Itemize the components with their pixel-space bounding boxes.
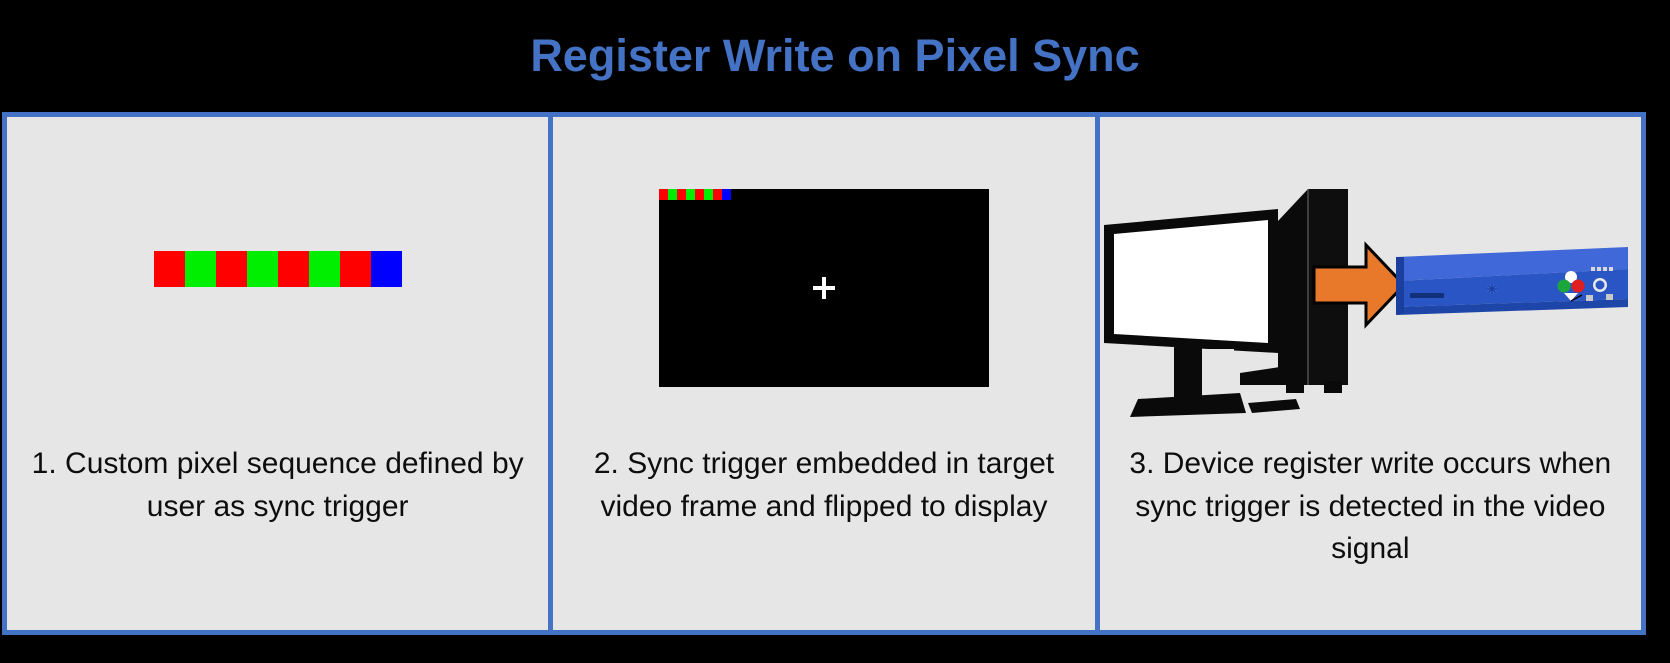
pixel-swatch-blue bbox=[371, 251, 402, 287]
panel-custom-pixel-sequence: 1. Custom pixel sequence defined by user… bbox=[7, 117, 548, 630]
computer-arrow-device-illustration bbox=[1100, 117, 1640, 443]
pixel-swatch-red bbox=[713, 189, 722, 200]
pixel-swatch-red bbox=[340, 251, 371, 287]
panel-1-visual bbox=[7, 117, 548, 443]
desktop-computer-icon bbox=[1104, 189, 1348, 417]
slide-root: Register Write on Pixel Sync 1. Custom p… bbox=[0, 0, 1670, 663]
crosshair-icon bbox=[813, 277, 835, 299]
computer-to-device-scene bbox=[1100, 117, 1641, 443]
pixel-swatch-red bbox=[216, 251, 247, 287]
pixel-swatch-green bbox=[309, 251, 340, 287]
pixel-swatch-red bbox=[278, 251, 309, 287]
panel-sync-trigger-embedded: 2. Sync trigger embedded in target video… bbox=[548, 117, 1094, 630]
panel-2-caption: 2. Sync trigger embedded in target video… bbox=[553, 443, 1094, 528]
panel-2-visual bbox=[553, 117, 1094, 443]
embedded-pixel-sequence-strip bbox=[659, 189, 731, 200]
video-frame bbox=[659, 189, 989, 387]
pixel-swatch-red bbox=[154, 251, 185, 287]
content-frame: 1. Custom pixel sequence defined by user… bbox=[2, 112, 1646, 635]
pixel-swatch-green bbox=[668, 189, 677, 200]
page-title: Register Write on Pixel Sync bbox=[530, 30, 1139, 82]
pixel-swatch-blue bbox=[722, 189, 731, 200]
panel-3-caption: 3. Device register write occurs when syn… bbox=[1100, 443, 1641, 571]
pixel-swatch-green bbox=[185, 251, 216, 287]
title-bar: Register Write on Pixel Sync bbox=[0, 0, 1670, 112]
panel-device-register-write: 3. Device register write occurs when syn… bbox=[1095, 117, 1641, 630]
pixel-swatch-red bbox=[659, 189, 668, 200]
device-vent-mark bbox=[1487, 284, 1497, 294]
blue-device-icon bbox=[1396, 247, 1628, 315]
crosshair-vertical-bar bbox=[822, 277, 826, 299]
pixel-swatch-green bbox=[686, 189, 695, 200]
device-power-button[interactable] bbox=[1593, 278, 1607, 292]
pixel-sequence-strip bbox=[154, 251, 402, 287]
panel-1-caption: 1. Custom pixel sequence defined by user… bbox=[7, 443, 548, 528]
pixel-swatch-red bbox=[677, 189, 686, 200]
monitor-screen bbox=[1114, 220, 1268, 343]
pixel-swatch-green bbox=[704, 189, 713, 200]
pixel-swatch-green bbox=[247, 251, 278, 287]
pixel-swatch-red bbox=[695, 189, 704, 200]
panel-3-visual bbox=[1100, 117, 1641, 443]
